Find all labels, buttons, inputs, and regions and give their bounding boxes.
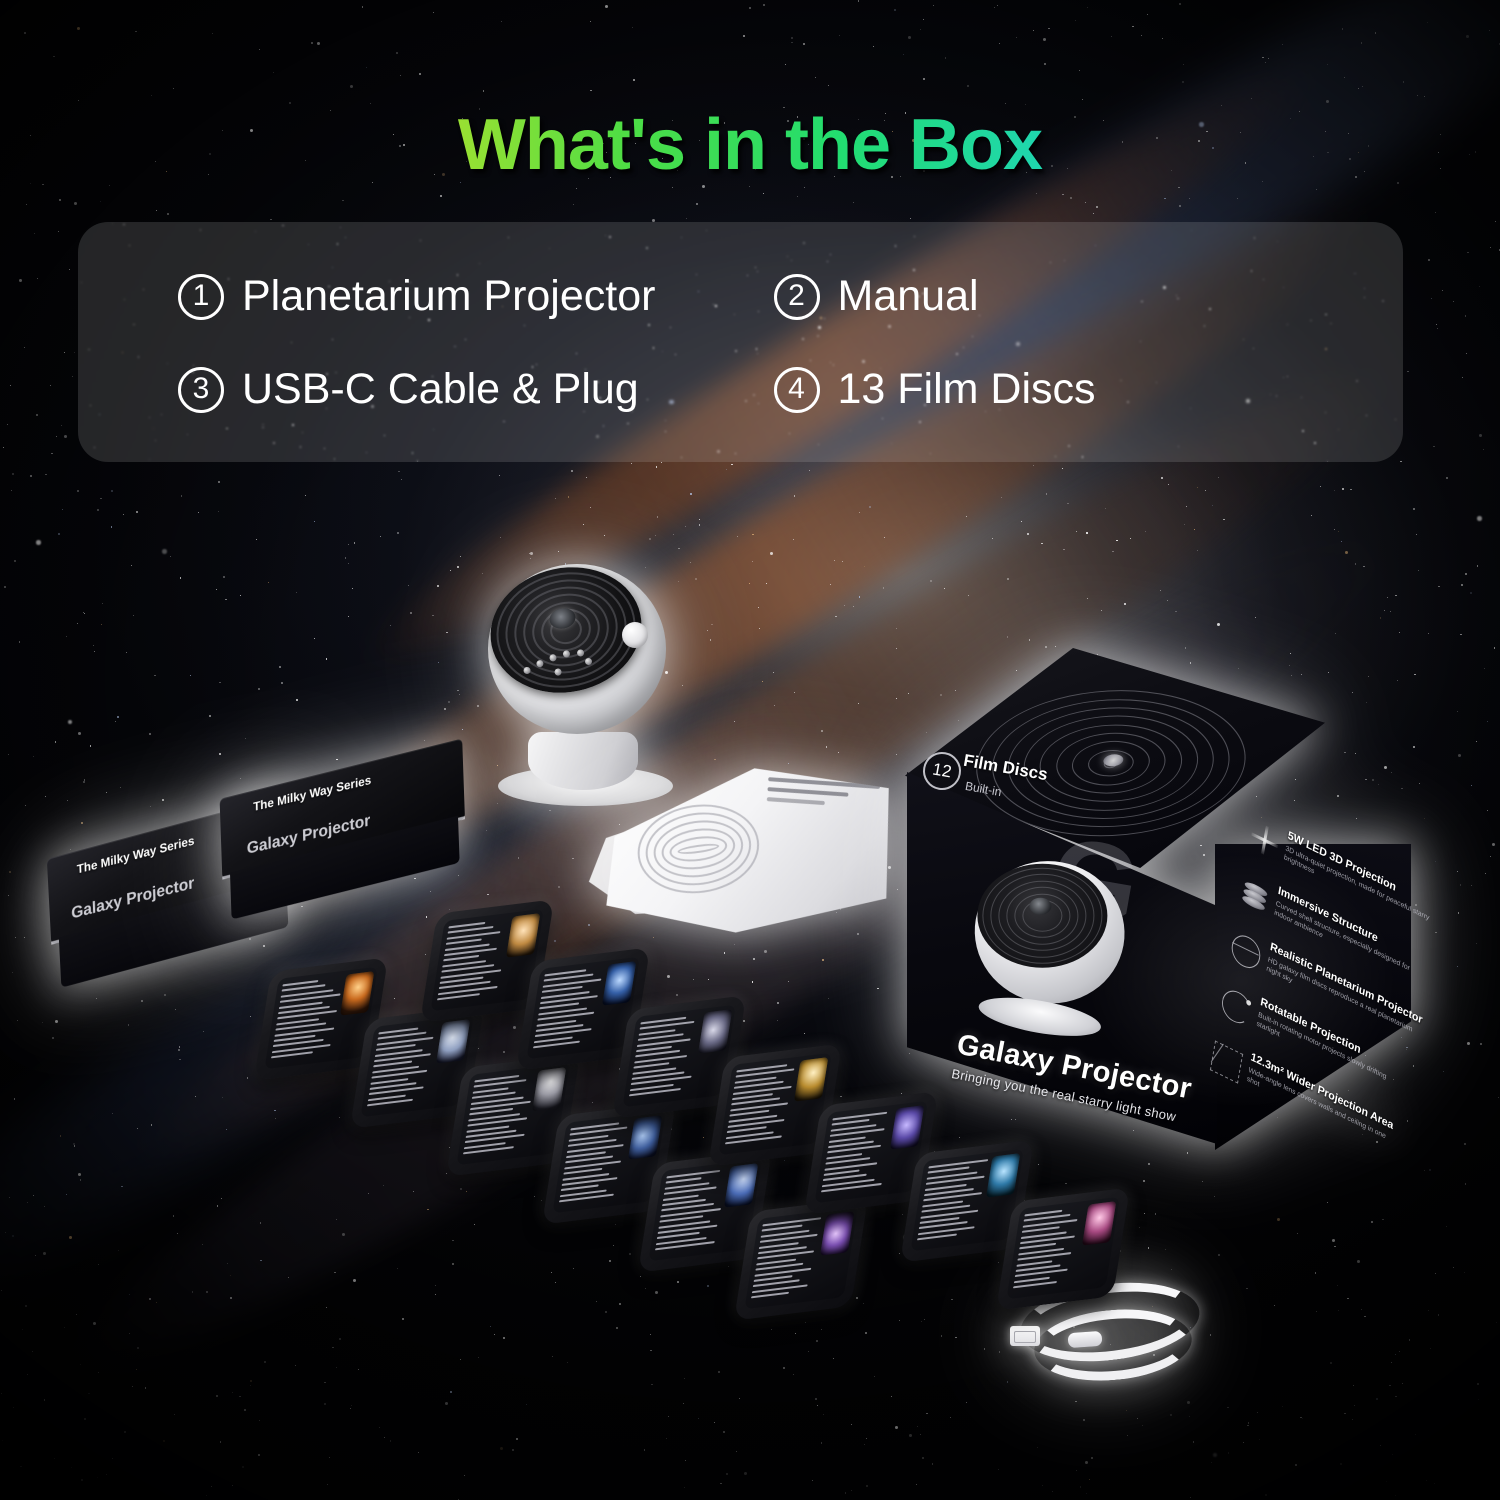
item-number-2: 2 [774, 274, 820, 320]
contents-panel: 1 Planetarium Projector 2 Manual 3 USB-C… [78, 222, 1403, 462]
manual-projector-lineart [627, 792, 769, 905]
page-title: What's in the Box [0, 104, 1500, 186]
film-disc-text-lines [270, 976, 347, 1063]
film-disc-text-lines [916, 1158, 993, 1245]
planetarium-projector-product [478, 556, 698, 806]
film-disc-text-lines [654, 1168, 731, 1255]
film-disc-text-lines [462, 1072, 539, 1159]
film-disc-thumbnail [698, 1009, 732, 1054]
film-disc-thumbnail [628, 1115, 662, 1160]
feature-area-icon [1210, 1040, 1243, 1083]
item-label-1: Planetarium Projector [242, 272, 655, 321]
film-disc-thumbnail [532, 1067, 566, 1112]
manual-title-line [767, 787, 848, 797]
film-disc-thumbnail [724, 1163, 758, 1208]
projector-body [488, 564, 666, 734]
manual-subtitle-line [767, 797, 825, 805]
box-art-projector-lens [1029, 898, 1051, 915]
film-disc-text-lines [366, 1024, 443, 1111]
manual-title-line [768, 777, 880, 789]
film-disc-thumbnail [1082, 1201, 1116, 1246]
item-label-3: USB-C Cable & Plug [242, 365, 639, 414]
film-disc-thumbnail [890, 1105, 924, 1150]
film-disc-thumbnail [506, 913, 540, 958]
film-disc-thumbnail [820, 1211, 854, 1256]
film-disc-text-lines [628, 1014, 705, 1101]
item-label-4: 13 Film Discs [838, 365, 1096, 414]
film-disc-thumbnail [794, 1057, 828, 1102]
list-item: 2 Manual [774, 250, 1370, 343]
film-disc-face [744, 1207, 858, 1310]
item-label-2: Manual [838, 272, 979, 321]
product-infographic: What's in the Box 1 Planetarium Projecto… [0, 0, 1500, 1500]
film-disc-text-lines [436, 918, 513, 1005]
film-disc-thumbnail [602, 961, 636, 1006]
film-disc-thumbnail [436, 1019, 470, 1064]
film-disc-thumbnail [986, 1153, 1020, 1198]
film-disc-face [1006, 1197, 1120, 1300]
list-item: 1 Planetarium Projector [178, 250, 774, 343]
projector-side-knob [622, 622, 648, 648]
film-disc-thumbnail [340, 971, 374, 1016]
feature-globe-icon [1229, 930, 1262, 973]
film-disc-text-lines [820, 1110, 897, 1197]
item-number-4: 4 [774, 367, 820, 413]
retail-box-product: G 12 Film Discs Built-in Galaxy Projecto… [905, 648, 1415, 1168]
list-item: 3 USB-C Cable & Plug [178, 343, 774, 436]
box-art-projector-body [963, 849, 1135, 1015]
item-number-1: 1 [178, 274, 224, 320]
feature-star-icon [1249, 820, 1280, 860]
feature-rot-icon [1220, 985, 1253, 1028]
usb-c-plug [1068, 1331, 1103, 1348]
box-art-projector-face [977, 864, 1107, 968]
retail-box-projector-photo [952, 834, 1154, 1049]
film-disc-text-lines [750, 1216, 827, 1303]
film-disc-text-lines [558, 1120, 635, 1207]
film-disc-text-lines [1012, 1206, 1089, 1293]
feature-disc-icon [1239, 875, 1270, 915]
usb-a-plug [1010, 1326, 1040, 1346]
projector-stand [528, 732, 638, 790]
item-number-3: 3 [178, 367, 224, 413]
film-disc-text-lines [724, 1062, 801, 1149]
manual-title-block [766, 777, 880, 815]
film-disc-text-lines [532, 966, 609, 1053]
list-item: 4 13 Film Discs [774, 343, 1370, 436]
